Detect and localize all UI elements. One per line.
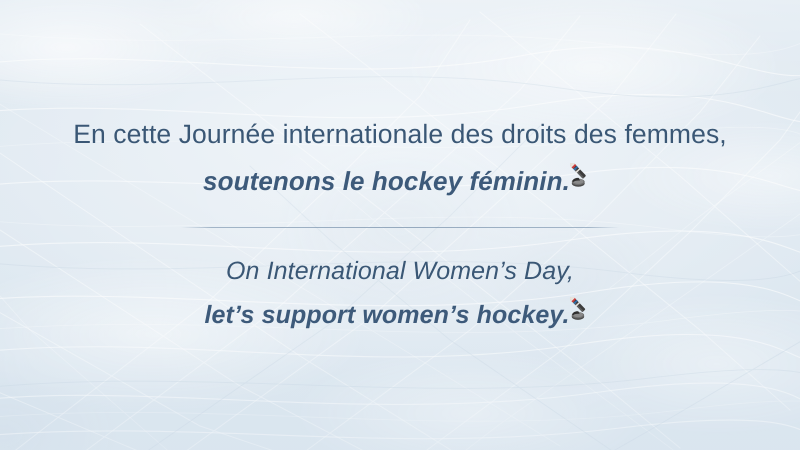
language-divider (181, 227, 619, 228)
french-line-2-text: soutenons le hockey féminin. (203, 166, 570, 196)
english-line-2-text: let’s support women’s hockey. (204, 301, 569, 329)
french-line-1: En cette Journée internationale des droi… (73, 119, 727, 150)
french-line-2: soutenons le hockey féminin. (203, 163, 597, 197)
message-block: En cette Journée internationale des droi… (0, 0, 800, 450)
hockey-stick-and-puck-icon (570, 297, 596, 323)
hockey-stick-and-puck-icon (570, 163, 597, 190)
english-line-1: On International Women’s Day, (226, 257, 574, 287)
social-graphic-canvas: En cette Journée internationale des droi… (0, 0, 800, 450)
english-line-2: let’s support women’s hockey. (204, 297, 595, 331)
